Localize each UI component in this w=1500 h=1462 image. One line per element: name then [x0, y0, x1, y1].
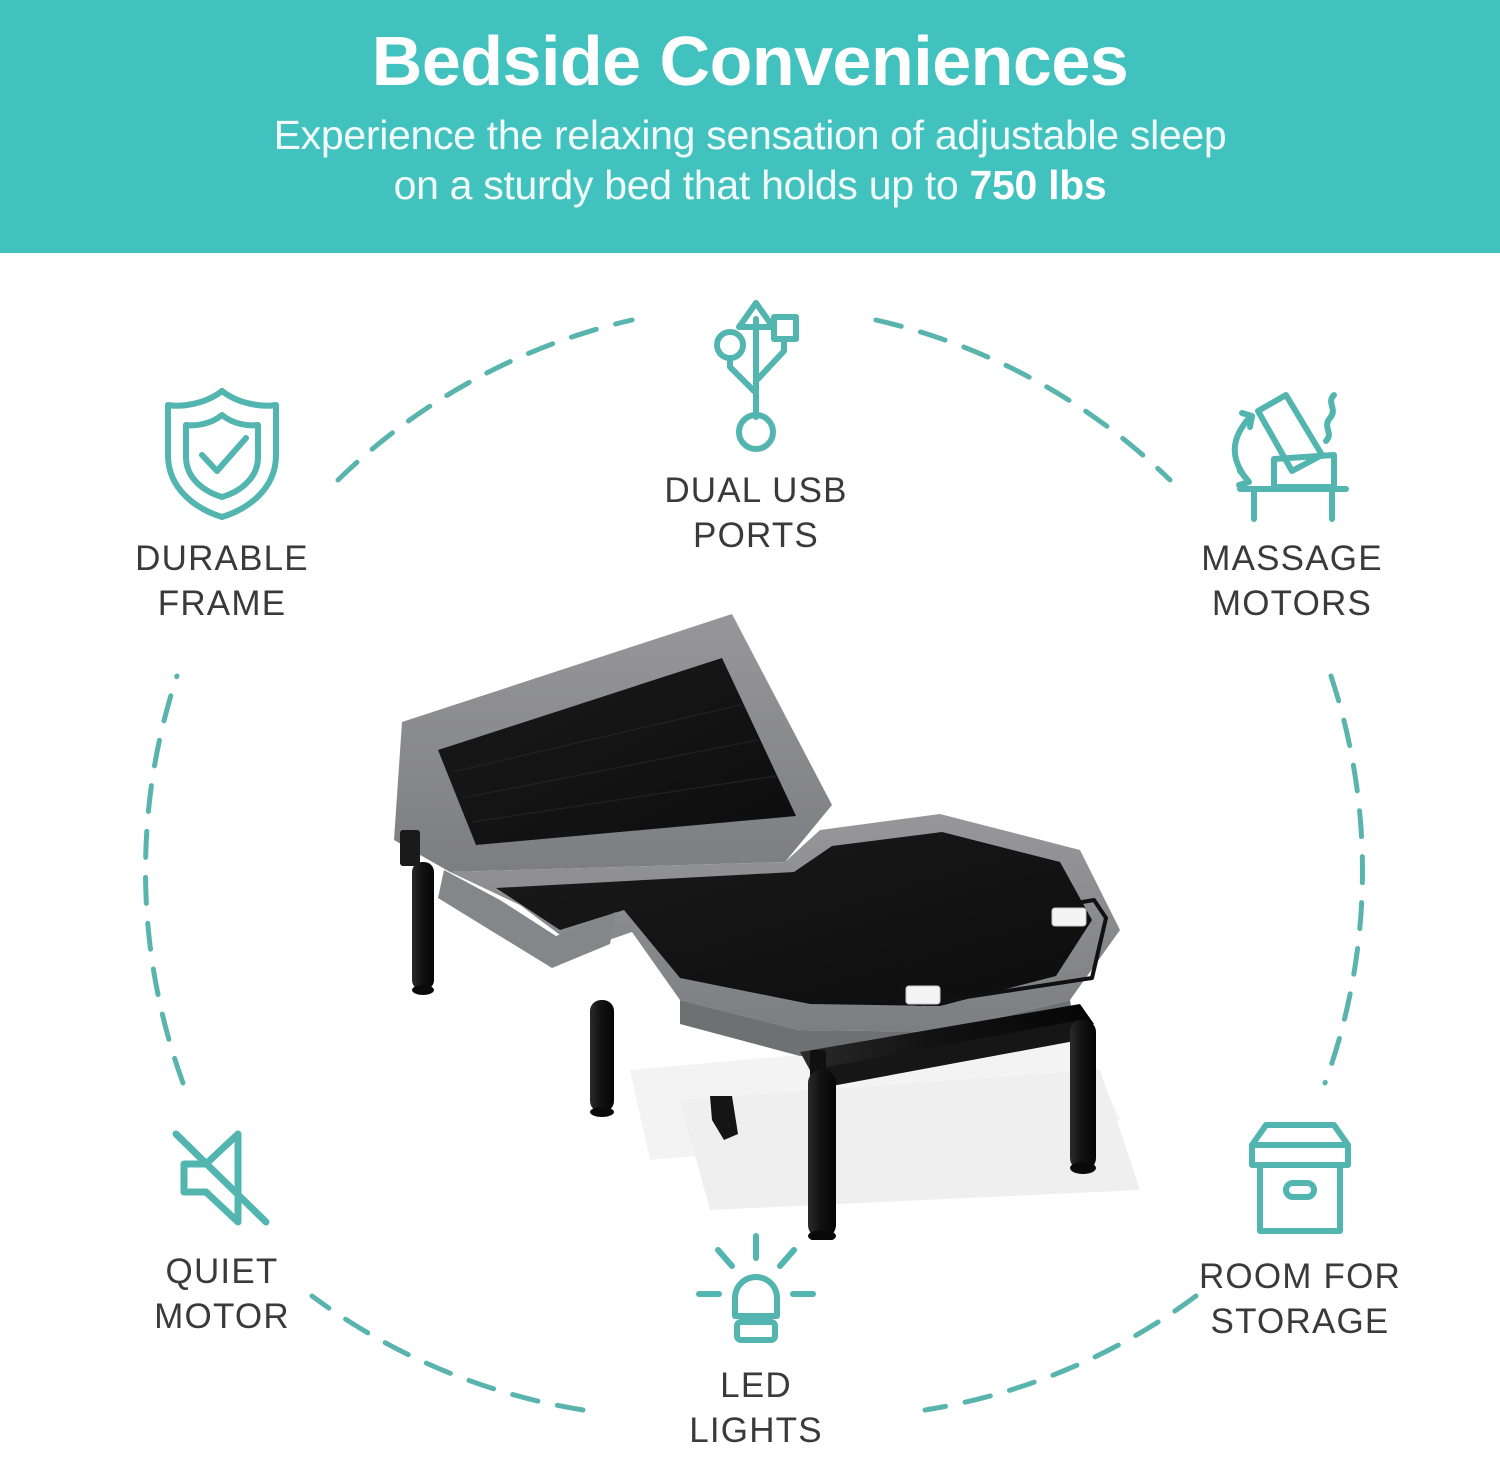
shield-check-icon — [154, 383, 290, 525]
feature-label-led-lights: LED LIGHTS — [606, 1364, 906, 1454]
feature-label-dual-usb-ports: DUAL USB PORTS — [606, 469, 906, 559]
header-banner: Bedside Conveniences Experience the rela… — [0, 0, 1500, 253]
feature-durable-frame: DURABLE FRAME — [72, 383, 372, 627]
feature-label-massage-motors: MASSAGE MOTORS — [1142, 537, 1442, 627]
infographic-page: Bedside Conveniences Experience the rela… — [0, 0, 1500, 1462]
header-subtitle-line-2: on a sturdy bed that holds up to 750 lbs — [0, 160, 1500, 210]
header-subtitle-line-1: Experience the relaxing sensation of adj… — [0, 110, 1500, 160]
product-image-adjustable-bed — [380, 600, 1140, 1240]
page-title: Bedside Conveniences — [0, 26, 1500, 96]
muted-speaker-icon — [162, 1118, 282, 1238]
adjustable-chair-vibration-icon — [1212, 383, 1372, 525]
feature-led-lights: LED LIGHTS — [606, 1232, 906, 1454]
feature-label-room-for-storage: ROOM FOR STORAGE — [1150, 1255, 1450, 1345]
arc-quiet-to-frame — [146, 676, 183, 1083]
arc-usb-to-massage — [876, 320, 1170, 480]
arc-massage-to-storage — [1325, 676, 1362, 1083]
bed-backrest — [394, 614, 832, 872]
arc-frame-to-usb — [338, 320, 632, 480]
header-subtitle-prefix: on a sturdy bed that holds up to — [394, 162, 970, 208]
feature-massage-motors: MASSAGE MOTORS — [1142, 383, 1442, 627]
storage-box-icon — [1230, 1115, 1370, 1243]
feature-room-for-storage: ROOM FOR STORAGE — [1150, 1115, 1450, 1345]
usb-trident-icon — [696, 297, 816, 457]
weight-capacity-emphasis: 750 lbs — [969, 162, 1106, 208]
feature-quiet-motor: QUIET MOTOR — [72, 1118, 372, 1340]
backrest-hinge-bracket — [400, 830, 420, 866]
light-bulb-rays-icon — [691, 1232, 821, 1352]
feature-dual-usb-ports: DUAL USB PORTS — [606, 297, 906, 559]
feature-label-durable-frame: DURABLE FRAME — [72, 537, 372, 627]
feature-label-quiet-motor: QUIET MOTOR — [72, 1250, 372, 1340]
